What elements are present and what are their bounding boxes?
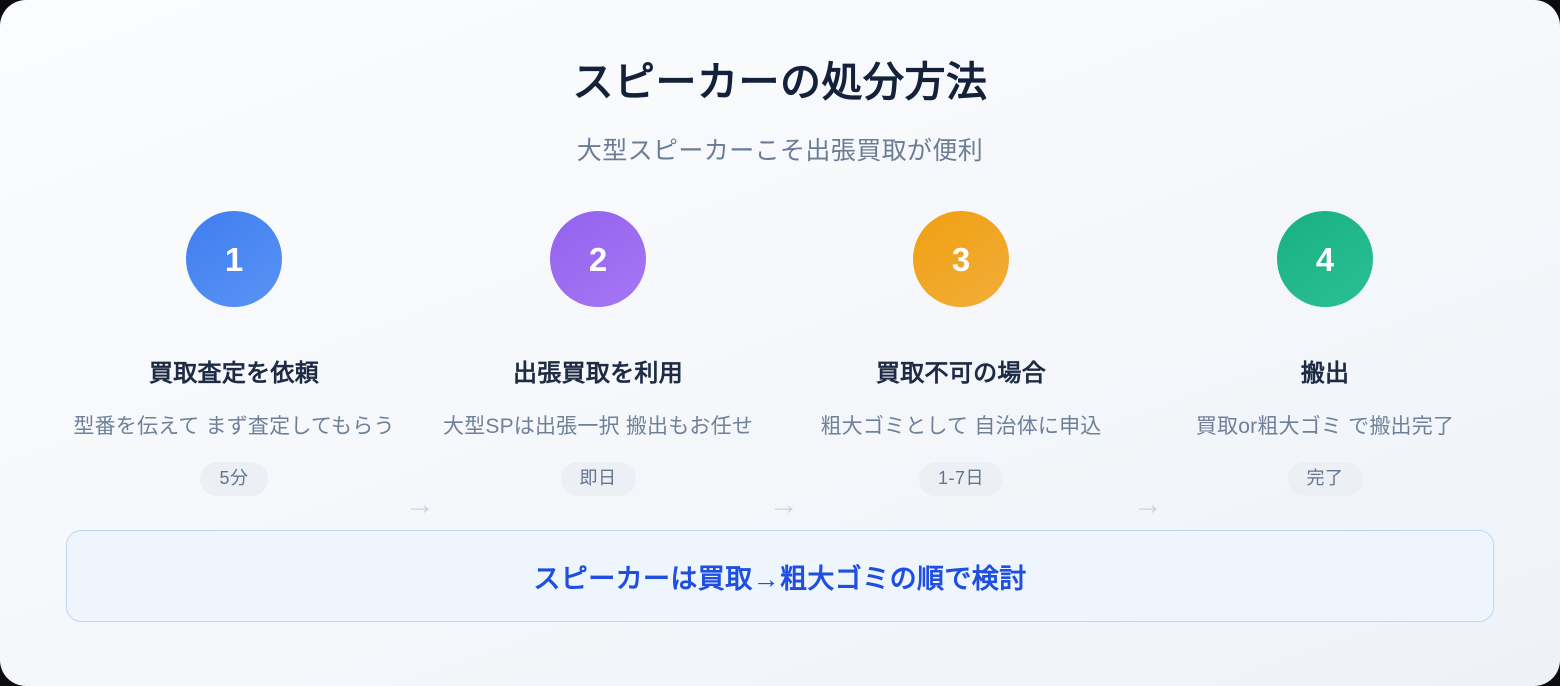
step-duration-badge-4: 完了 — [1288, 462, 1363, 496]
arrow-right-icon: → — [390, 490, 450, 520]
step-duration-wrap-2: 即日 — [416, 462, 780, 496]
step-number-badge-1: 1 — [186, 211, 282, 307]
step-item-3[interactable]: 3 買取不可の場合 粗大ゴミとして 自治体に申込 1-7日 — [779, 211, 1143, 496]
summary-banner-text: スピーカーは買取→粗大ゴミの順で検討 — [533, 557, 1026, 596]
step-duration-badge-3: 1-7日 — [919, 462, 1003, 496]
step-number-3: 3 — [952, 243, 970, 276]
page-title: スピーカーの処分方法 — [0, 58, 1560, 107]
step-duration-wrap-3: 1-7日 — [779, 462, 1143, 496]
page-subtitle: 大型スピーカーこそ出張買取が便利 — [0, 131, 1560, 167]
step-duration-badge-1: 5分 — [200, 462, 267, 496]
step-number-badge-3: 3 — [913, 211, 1009, 307]
step-description-4: 買取or粗大ゴミ で搬出完了 — [1143, 410, 1507, 440]
step-label-4: 搬出 — [1143, 353, 1507, 388]
step-label-1: 買取査定を依頼 — [52, 353, 416, 388]
disposal-flow-card: スピーカーの処分方法 大型スピーカーこそ出張買取が便利 1 買取査定を依頼 型番… — [0, 0, 1560, 686]
step-item-4[interactable]: 4 搬出 買取or粗大ゴミ で搬出完了 完了 — [1143, 211, 1507, 496]
step-description-2: 大型SPは出張一択 搬出もお任せ — [416, 410, 780, 440]
card-header: スピーカーの処分方法 大型スピーカーこそ出張買取が便利 — [0, 0, 1560, 167]
step-number-2: 2 — [589, 243, 607, 276]
step-number-1: 1 — [225, 243, 243, 276]
step-number-4: 4 — [1316, 243, 1334, 276]
step-number-badge-4: 4 — [1277, 211, 1373, 307]
arrow-right-icon: → — [754, 490, 814, 520]
step-number-badge-2: 2 — [550, 211, 646, 307]
step-label-3: 買取不可の場合 — [779, 353, 1143, 388]
step-duration-wrap-1: 5分 — [52, 462, 416, 496]
summary-banner: スピーカーは買取→粗大ゴミの順で検討 — [66, 530, 1494, 622]
step-description-3: 粗大ゴミとして 自治体に申込 — [779, 410, 1143, 440]
step-item-1[interactable]: 1 買取査定を依頼 型番を伝えて まず査定してもらう 5分 — [52, 211, 416, 496]
step-label-2: 出張買取を利用 — [416, 353, 780, 388]
step-description-1: 型番を伝えて まず査定してもらう — [52, 410, 416, 440]
step-duration-wrap-4: 完了 — [1143, 462, 1507, 496]
arrow-right-icon: → — [1118, 490, 1178, 520]
step-flow: 1 買取査定を依頼 型番を伝えて まず査定してもらう 5分 2 出張買取を利用 … — [0, 211, 1560, 481]
step-duration-badge-2: 即日 — [561, 462, 636, 496]
step-item-2[interactable]: 2 出張買取を利用 大型SPは出張一択 搬出もお任せ 即日 — [416, 211, 780, 496]
